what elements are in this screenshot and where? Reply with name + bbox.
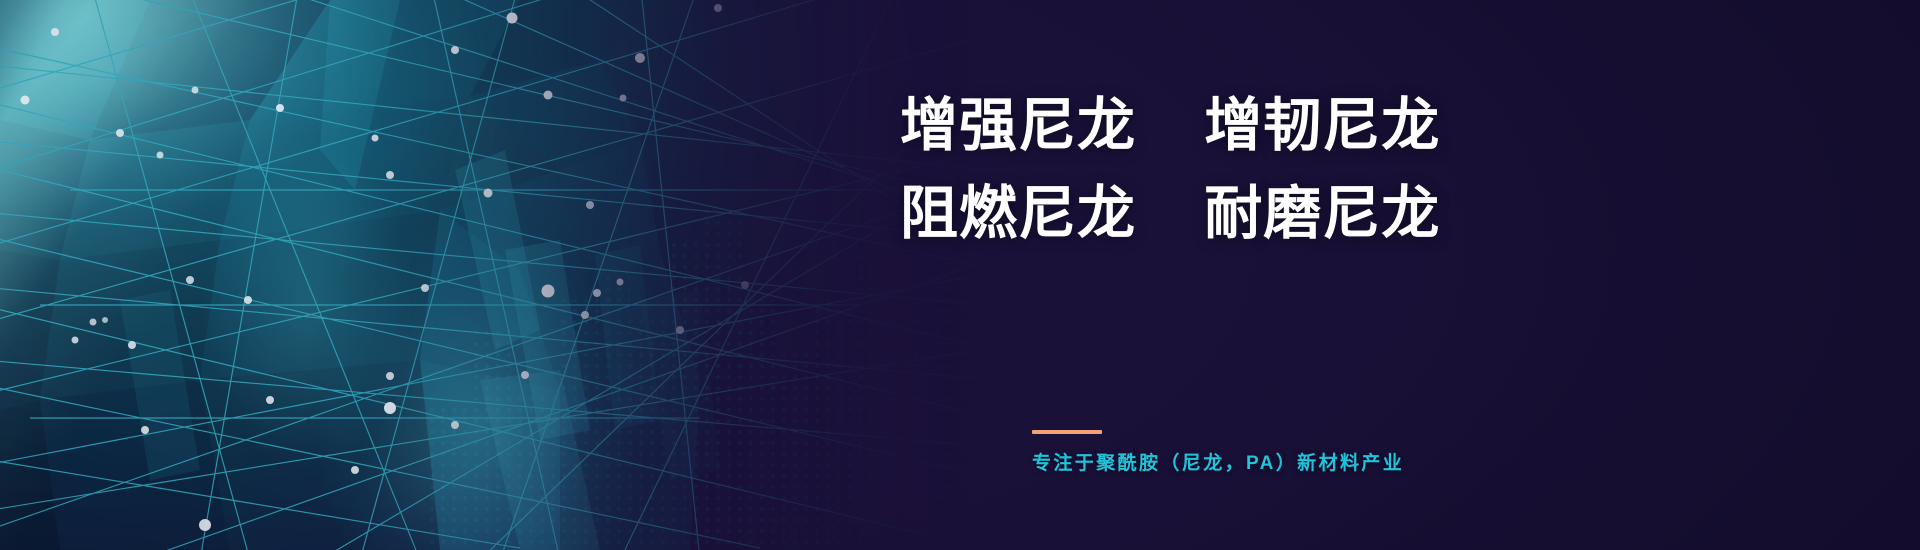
headline-line-1-left: 增强尼龙 xyxy=(900,93,1136,158)
headline-line-2: 阻燃尼龙 耐磨尼龙 xyxy=(900,170,1520,258)
headline-block: 增强尼龙 增韧尼龙 阻燃尼龙 耐磨尼龙 xyxy=(900,82,1520,258)
orange-divider-rule xyxy=(1032,430,1102,434)
headline-line-1: 增强尼龙 增韧尼龙 xyxy=(900,82,1520,170)
banner-subtitle: 专注于聚酰胺（尼龙，PA）新材料产业 xyxy=(1032,448,1452,475)
headline-line-1-right: 增韧尼龙 xyxy=(1204,93,1440,158)
hero-banner: 增强尼龙 增韧尼龙 阻燃尼龙 耐磨尼龙 专注于聚酰胺（尼龙，PA）新材料产业 xyxy=(0,0,1920,550)
subtitle-block: 专注于聚酰胺（尼龙，PA）新材料产业 xyxy=(1032,430,1452,475)
headline-line-2-left: 阻燃尼龙 xyxy=(900,181,1136,246)
headline-line-2-right: 耐磨尼龙 xyxy=(1204,181,1440,246)
